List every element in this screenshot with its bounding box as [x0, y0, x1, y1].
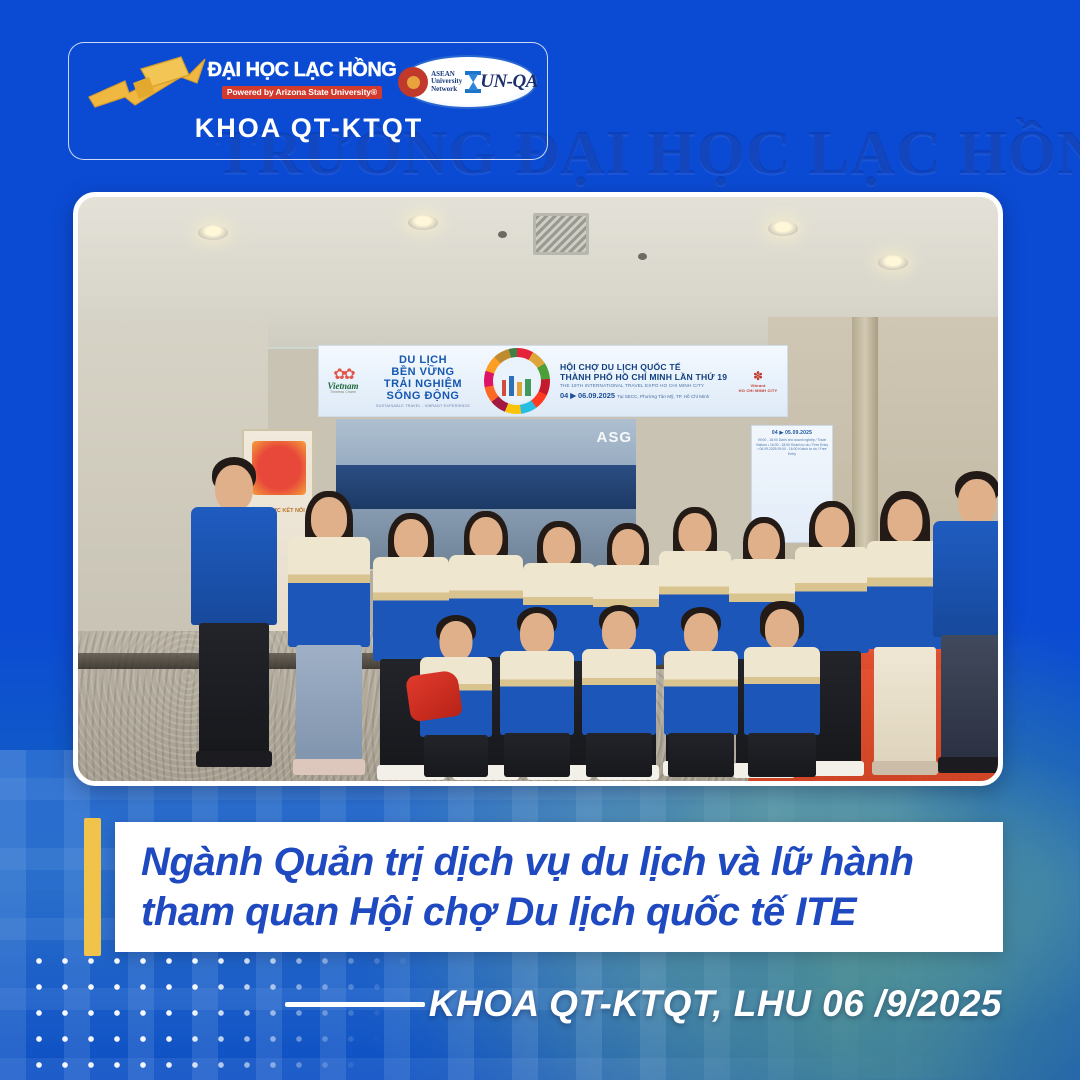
person-figure [186, 451, 282, 781]
banner-title-line-2: THÀNH PHỐ HỒ CHÍ MINH LẦN THỨ 19 [560, 372, 729, 382]
city-brand-mark: ✽ [729, 369, 787, 383]
powered-by-label: Powered by Arizona State University® [222, 86, 382, 99]
person-figure [930, 461, 998, 781]
slogan-line-1: DU LỊCH [367, 354, 479, 366]
poster-canvas: TRƯỜNG ĐẠI HỌC LẠC HỒNG ĐẠI HỌC LẠC HỒNG… [0, 0, 1080, 1080]
city-brand-line-2: HO CHI MINH CITY [729, 388, 787, 393]
ceiling-downlight [408, 215, 438, 230]
vietnam-logo-sub: Timeless Charm [319, 391, 367, 395]
ceiling-downlight [878, 255, 908, 270]
red-jacket-prop [405, 670, 463, 723]
ceiling-downlight [198, 225, 228, 240]
slogan-subtitle: SUSTAINABLE TRAVEL - VIBRANT EXPERIENCE [367, 404, 479, 408]
expo-led-banner: ✿✿ Vietnam Timeless Charm DU LỊCH BỀN VỮ… [318, 345, 788, 417]
banner-title-line-1: HỘI CHỢ DU LỊCH QUỐC TẾ [560, 362, 729, 372]
aun-qa-badge: ASEAN University Network UN-QA [399, 55, 537, 109]
slogan-line-4: SỐNG ĐỘNG [367, 390, 479, 402]
banner-venue: Tại SECC, Phường Tân Mỹ, TP. Hồ Chí Minh [617, 394, 709, 399]
asean-emblem-icon [398, 67, 428, 97]
ceiling-vent-icon [533, 213, 589, 255]
banner-dates-row: 04 ▶ 06.09.2025 Tại SECC, Phường Tân Mỹ,… [560, 391, 729, 400]
lhu-wordmark: ĐẠI HỌC LẠC HỒNG Powered by Arizona Stat… [207, 59, 397, 100]
group-photo: ASG ✿✿ Vietnam Timeless Charm DU LỊCH BỀ… [78, 197, 998, 781]
sdg-inner-disc [493, 357, 541, 405]
title-line-1: Ngành Quản trị dịch vụ du lịch và lữ hàn… [141, 837, 981, 887]
title-line-2: tham quan Hội chợ Du lịch quốc tế ITE [141, 887, 981, 937]
person-figure [742, 601, 822, 781]
ceiling-sensor-icon [498, 231, 507, 238]
asean-network-label: ASEAN University Network [431, 71, 462, 94]
banner-dates: 04 ▶ 06.09.2025 [560, 391, 615, 400]
person-figure [580, 603, 658, 781]
title-card: Ngành Quản trị dịch vụ du lịch và lữ hàn… [115, 822, 1003, 952]
slogan-line-3: TRẢI NGHIỆM [367, 378, 479, 390]
hourglass-icon [465, 71, 481, 93]
faculty-name: KHOA QT-KTQT [69, 113, 549, 144]
ceiling-sensor-icon [638, 253, 647, 260]
banner-title-block: HỘI CHỢ DU LỊCH QUỐC TẾ THÀNH PHỐ HỒ CHÍ… [555, 362, 729, 400]
slogan-line-2: BỀN VỮNG [367, 366, 479, 378]
vietnam-tourism-logo: ✿✿ Vietnam Timeless Charm [319, 367, 367, 395]
decorative-dot-grid [26, 948, 416, 1080]
title-accent-bar [84, 818, 101, 956]
city-brand-logo: ✽ Vibrant HO CHI MINH CITY [729, 369, 787, 393]
ceiling-downlight [768, 221, 798, 236]
schedule-heading: 04 ▶ 05.09.2025 [755, 430, 829, 436]
lhu-arrow-logo-icon [85, 53, 213, 115]
university-name: ĐẠI HỌC LẠC HỒNG [207, 59, 397, 82]
banner-slogan: DU LỊCH BỀN VỮNG TRẢI NGHIỆM SỐNG ĐỘNG S… [367, 354, 479, 408]
schedule-body: 09:00 - 18:00 Dành cho doanh nghiệp / Tr… [755, 438, 829, 456]
person-figure [662, 605, 740, 781]
banner-subtitle-en: THE 19TH INTERNATIONAL TRAVEL EXPO HO CH… [560, 383, 729, 388]
sdg-city-illustration [500, 374, 534, 396]
person-figure [498, 605, 576, 781]
header-badge: ĐẠI HỌC LẠC HỒNG Powered by Arizona Stat… [68, 42, 548, 160]
lotus-icon: ✿✿ [319, 367, 367, 382]
aun-qa-label: UN-QA [480, 71, 538, 93]
person-figure [284, 469, 374, 781]
header-logo-row: ĐẠI HỌC LẠC HỒNG Powered by Arizona Stat… [69, 51, 549, 113]
hall-sign-label: ASG [596, 429, 632, 446]
sdg-wheel-icon [481, 348, 553, 414]
footer-credit: KHOA QT-KTQT, LHU 06 /9/2025 [429, 983, 1002, 1025]
main-photo-frame: ASG ✿✿ Vietnam Timeless Charm DU LỊCH BỀ… [73, 192, 1003, 786]
